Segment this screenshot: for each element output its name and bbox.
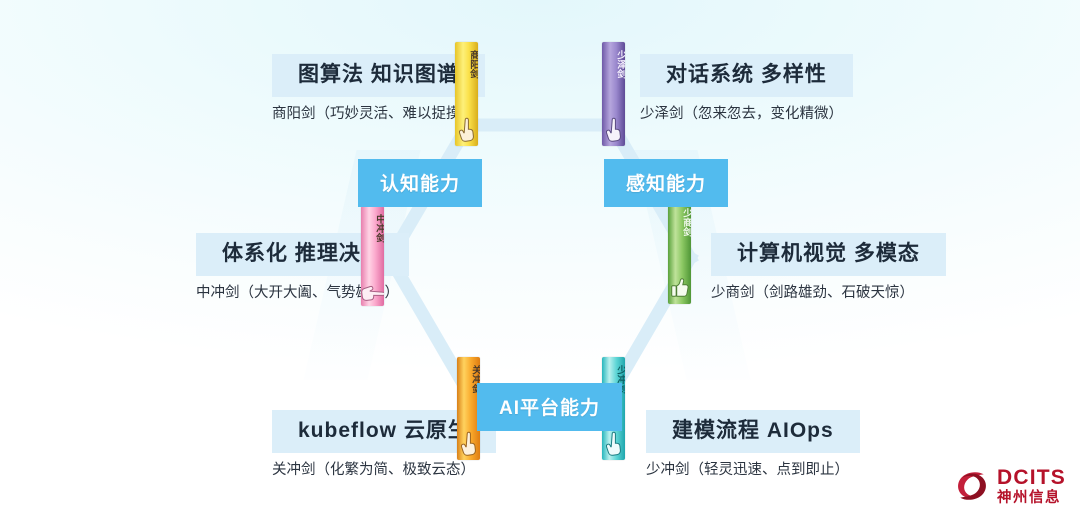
pointing-hand-icon xyxy=(457,117,477,143)
sword-bar-zhongchong[interactable]: 中冲剑 xyxy=(361,206,384,306)
diagram-canvas: 图算法 知识图谱 商阳剑（巧妙灵活、难以捉摸） 商阳剑 对话系统 多样性 少泽剑… xyxy=(0,0,1080,519)
node-dialog-system[interactable]: 对话系统 多样性 少泽剑（忽来忽去，变化精微） xyxy=(640,54,853,124)
node-description: 关冲剑（化繁为简、极致云态） xyxy=(272,462,496,479)
node-description: 少泽剑（忽来忽去，变化精微） xyxy=(640,106,853,123)
node-description: 少冲剑（轻灵迅速、点到即止） xyxy=(646,462,860,479)
node-description: 商阳剑（巧妙灵活、难以捉摸） xyxy=(272,106,485,123)
node-description: 少商剑（剑路雄劲、石破天惊） xyxy=(711,285,946,302)
node-title-banner: 图算法 知识图谱 xyxy=(272,54,485,97)
capability-chip-perceptive[interactable]: 感知能力 xyxy=(604,159,728,207)
node-modeling-aiops[interactable]: 建模流程 AIOps 少冲剑（轻灵迅速、点到即止） xyxy=(646,410,860,480)
sword-bar-shaoze[interactable]: 少泽剑 xyxy=(602,42,625,146)
pointing-hand-icon xyxy=(604,117,624,143)
capability-chip-cognitive[interactable]: 认知能力 xyxy=(358,159,482,207)
sword-label: 少泽剑 xyxy=(602,50,625,79)
node-title-banner: 建模流程 AIOps xyxy=(646,410,860,453)
sword-label: 少商剑 xyxy=(668,208,691,237)
sword-label: 中冲剑 xyxy=(361,214,384,243)
thumbs-up-icon xyxy=(669,276,690,301)
sword-bar-shaoshang[interactable]: 少商剑 xyxy=(668,200,691,304)
pointing-hand-icon xyxy=(459,431,479,457)
node-computer-vision[interactable]: 计算机视觉 多模态 少商剑（剑路雄劲、石破天惊） xyxy=(711,233,946,303)
sword-label: 商阳剑 xyxy=(455,50,478,79)
logo-en-text: DCITS xyxy=(997,467,1066,488)
node-title-banner: 对话系统 多样性 xyxy=(640,54,853,97)
node-graph-algorithm[interactable]: 图算法 知识图谱 商阳剑（巧妙灵活、难以捉摸） xyxy=(272,54,485,124)
capability-chip-ai-platform[interactable]: AI平台能力 xyxy=(477,383,622,431)
pointing-hand-icon xyxy=(361,284,384,304)
swirl-icon xyxy=(954,468,990,504)
node-title-banner: 计算机视觉 多模态 xyxy=(711,233,946,276)
dcits-logo: DCITS 神州信息 xyxy=(954,467,1066,506)
pointing-hand-icon xyxy=(604,431,624,457)
logo-wordmark: DCITS 神州信息 xyxy=(997,467,1066,506)
logo-cn-text: 神州信息 xyxy=(997,491,1066,506)
sword-bar-shangyang[interactable]: 商阳剑 xyxy=(455,42,478,146)
